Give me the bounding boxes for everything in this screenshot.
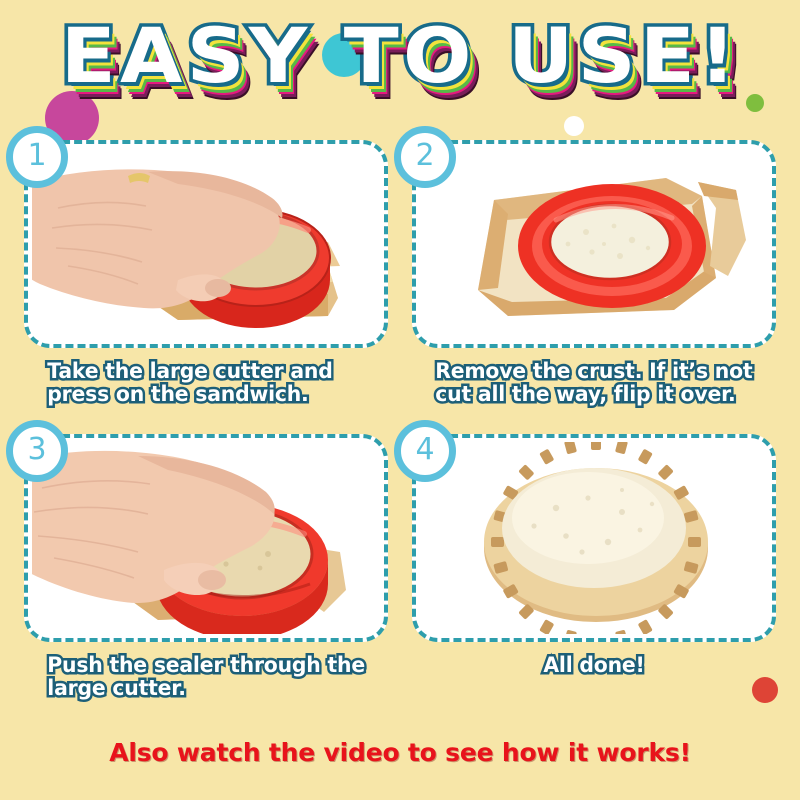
step-2-image-card: 2 [412,140,776,348]
page-title-text: EASY TO USE! [60,18,739,94]
step-badge-3: 3 [6,420,68,482]
step-4-image-card: 4 [412,434,776,642]
step-badge-2-number: 2 [415,141,434,171]
step-3-photo [32,442,380,634]
infographic-poster: EASY TO USE! [0,0,800,800]
step-1-caption-line-2: press on the sandwich. [47,383,377,406]
step-badge-3-number: 3 [27,435,46,465]
footer-note: Also watch the video to see how it works… [0,738,800,767]
green-dot-decoration [746,94,764,112]
step-1-image-card: 1 [24,140,388,348]
page-title: EASY TO USE! [0,18,800,94]
step-2-caption-line-2: cut all the way, flip it over. [435,383,765,406]
step-1-photo [32,148,380,340]
step-3-image-card: 3 [24,434,388,642]
step-3-caption-line-1: Push the sealer through the [47,654,377,677]
step-card-1: 1 Take the large cutter and press on the… [24,140,388,405]
step-badge-4: 4 [394,420,456,482]
step-card-4: 4 All done! [412,434,776,677]
step-2-photo [420,148,768,340]
step-1-caption: Take the large cutter and press on the s… [24,360,377,405]
steps-grid: 1 Take the large cutter and press on the… [0,140,800,730]
white-dot-decoration [564,116,584,136]
step-3-caption: Push the sealer through the large cutter… [24,654,377,699]
step-badge-4-number: 4 [415,435,434,465]
step-badge-2: 2 [394,126,456,188]
step-card-2: 2 Remove the crust. If it’s not cut all … [412,140,776,405]
step-2-caption-line-1: Remove the crust. If it’s not [435,360,765,383]
step-4-caption-line-1: All done! [417,654,770,677]
step-card-3: 3 Push the sealer through the large cutt… [24,434,388,699]
step-4-photo [420,442,768,634]
step-2-caption: Remove the crust. If it’s not cut all th… [412,360,765,405]
step-1-caption-line-1: Take the large cutter and [47,360,377,383]
step-badge-1-number: 1 [27,141,46,171]
step-3-caption-line-2: large cutter. [47,677,377,700]
step-4-caption: All done! [417,654,770,677]
step-badge-1: 1 [6,126,68,188]
